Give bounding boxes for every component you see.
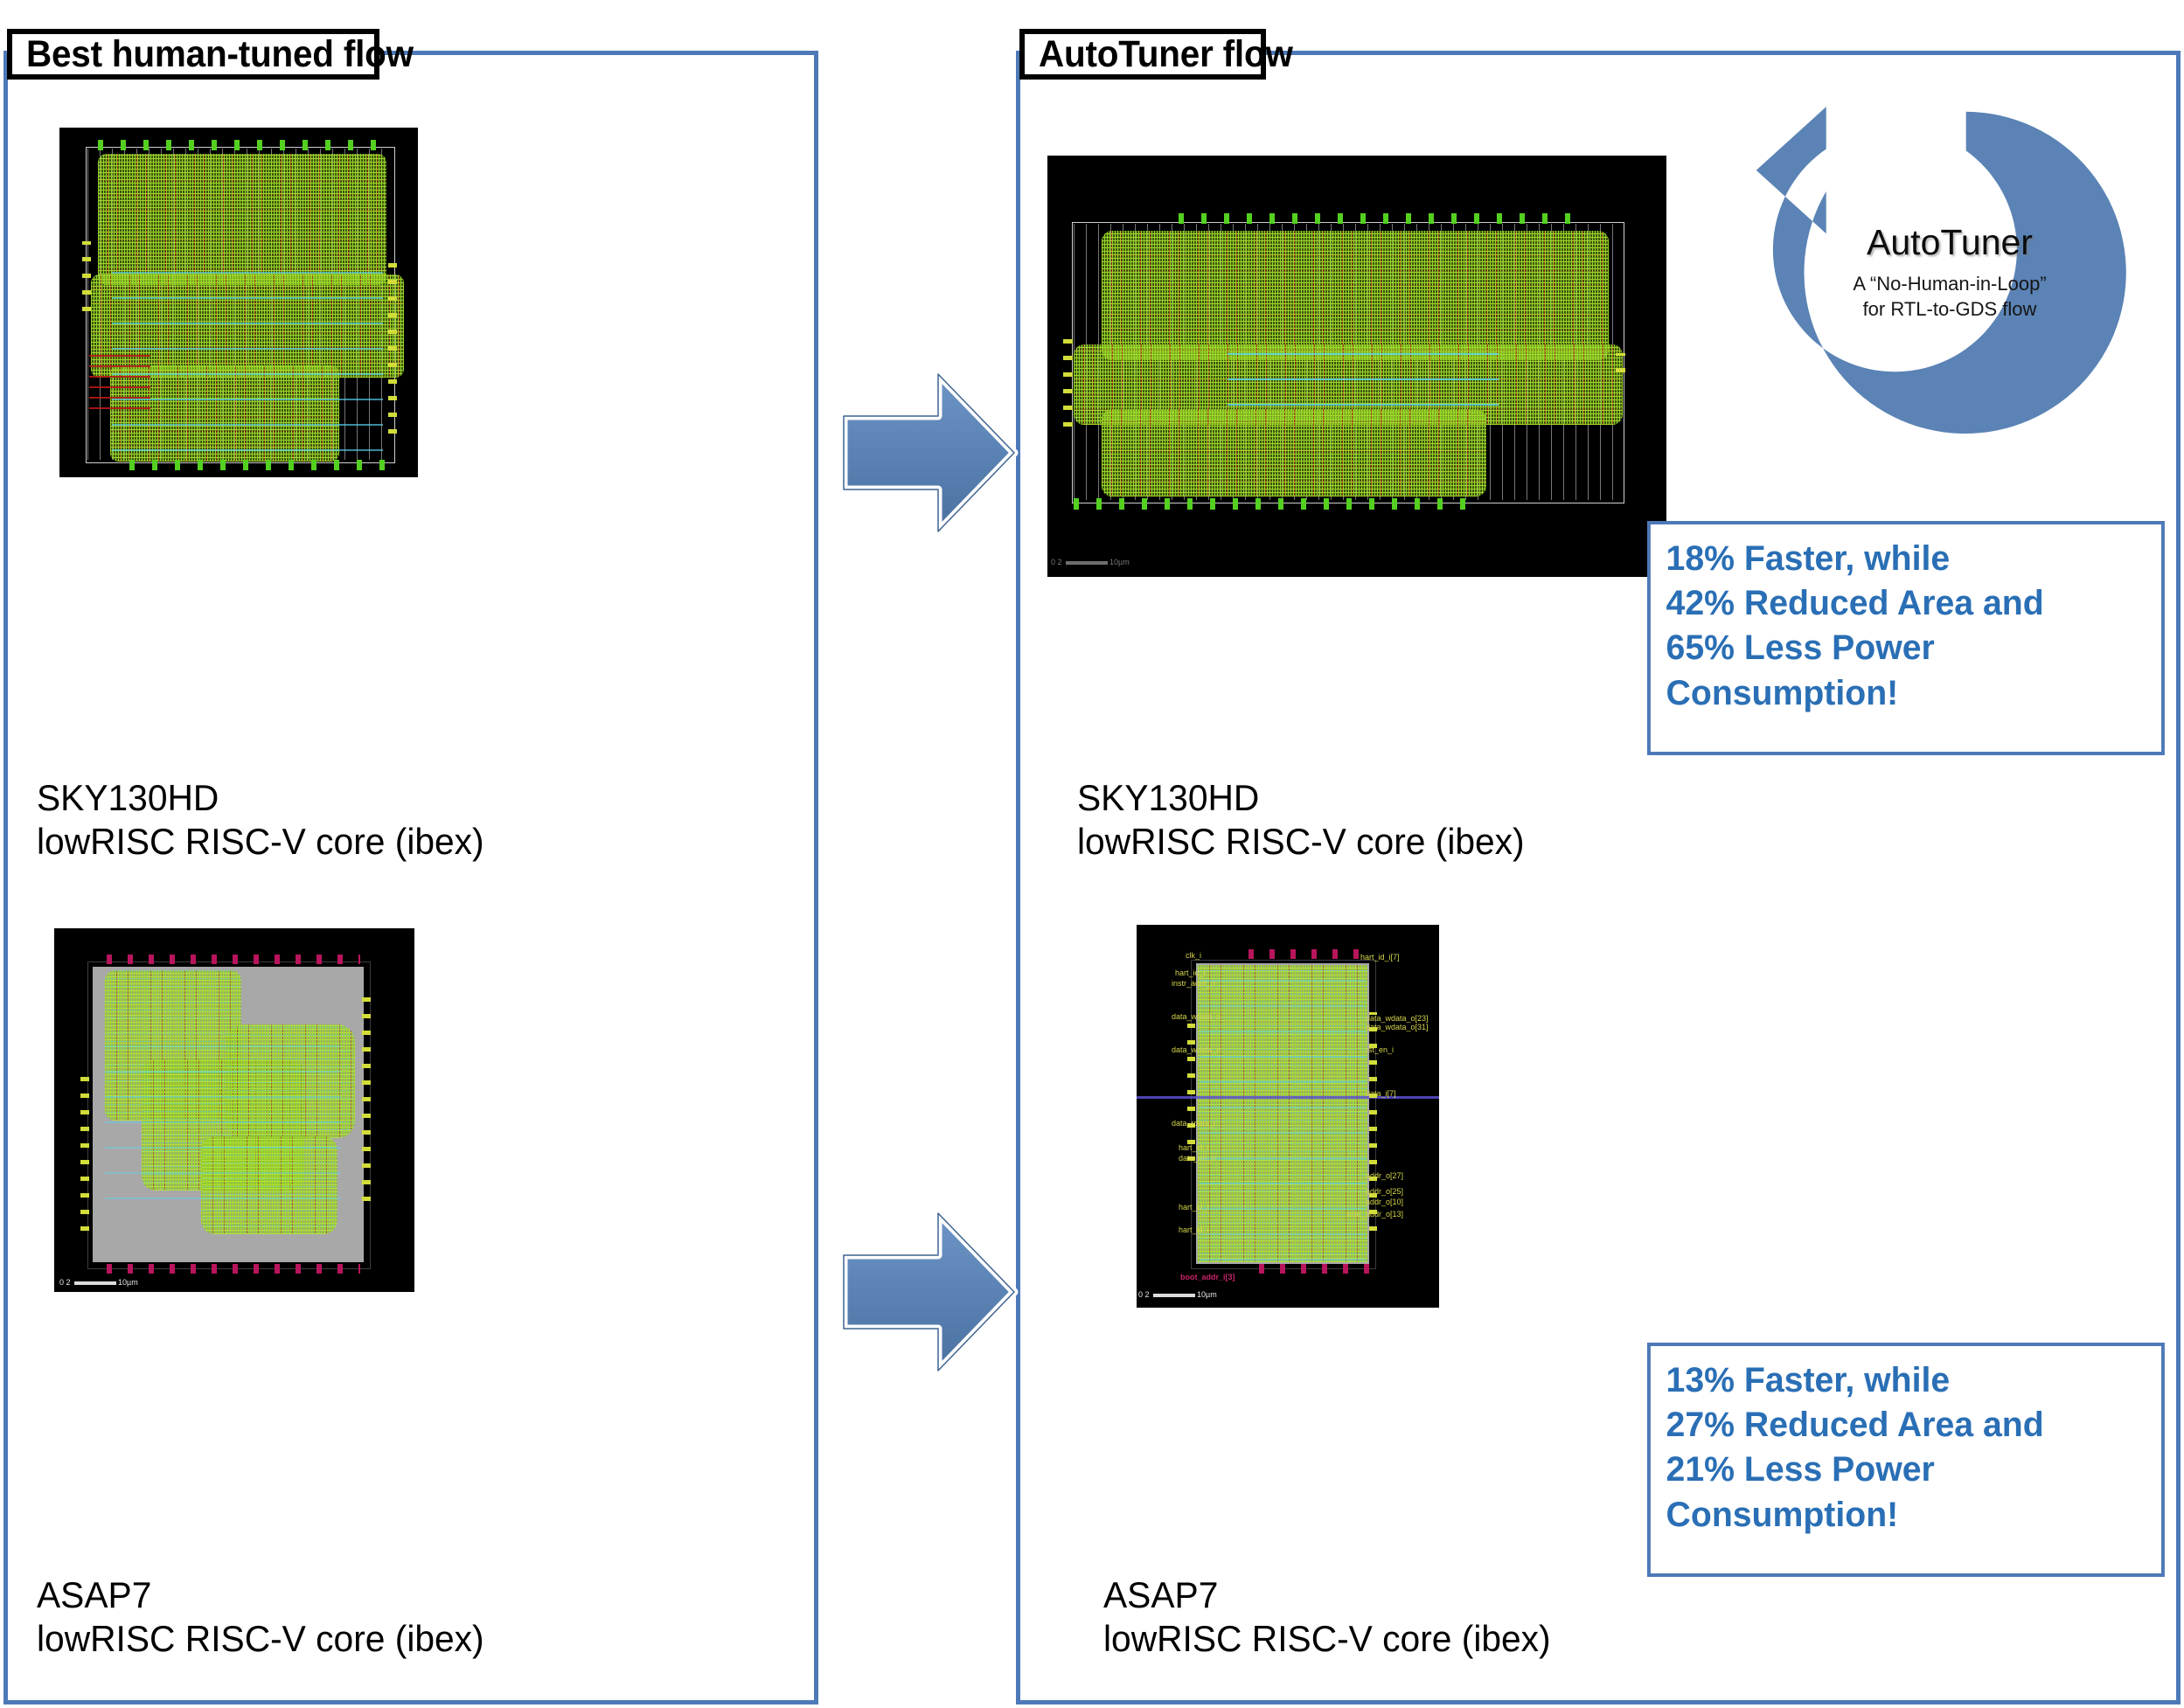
pin-label-wdata-o-23: data_wdata_o[23] <box>1366 1014 1429 1023</box>
pin-row-bottom <box>1074 498 1467 510</box>
pin-row-top <box>1179 213 1581 224</box>
panel-title-autotuner: AutoTuner flow <box>1019 29 1266 80</box>
pin-label-data-en-o: data_en_o <box>1179 1154 1216 1163</box>
pin-col-left <box>82 241 91 311</box>
result-callout-sky130hd: 18% Faster, while 42% Reduced Area and 6… <box>1647 521 2165 755</box>
pin-label-addr-o-25: addr_o[25] <box>1366 1187 1403 1196</box>
routing-cyan-layer <box>1200 969 1366 1260</box>
autotuner-logo-subtitle: A “No-Human-in-Loop” for RTL-to-GDS flow <box>1722 272 2177 322</box>
scale-bar-left-label: 0 2 <box>1138 1290 1150 1299</box>
chip-layout-sky130hd-autotuner: 0 2 10µm <box>1047 156 1666 577</box>
routing-cyan-layer <box>1228 344 1499 406</box>
autotuner-logo-title: AutoTuner <box>1722 222 2177 263</box>
flow-arrow-top <box>835 365 1023 540</box>
pin-label-instr-addr-o: instr_addr_o <box>1172 979 1215 988</box>
scale-bar-rule <box>74 1281 116 1285</box>
routing-cyan-layer <box>112 250 383 451</box>
pin-col-left <box>80 1073 89 1231</box>
right-arrow-icon <box>835 1205 1023 1379</box>
caption-sky130hd-human: SKY130HD lowRISC RISC-V core (ibex) <box>37 776 484 864</box>
die-canvas <box>59 128 418 477</box>
scale-bar-rule <box>1153 1294 1195 1297</box>
scale-bar: 0 2 10µm <box>59 1278 138 1287</box>
flow-arrow-bottom <box>835 1205 1023 1379</box>
scale-bar: 0 2 10µm <box>1138 1290 1217 1299</box>
pin-label-addr-o-10: addr_o[10] <box>1366 1198 1403 1206</box>
scale-bar-rule <box>1066 561 1108 565</box>
pin-label-instr-addr-o-13: instr_addr_o[13] <box>1346 1210 1403 1219</box>
pin-label-hart-id-i: hart_id_i <box>1175 969 1206 977</box>
scale-bar-right-label: 10µm <box>1109 558 1130 566</box>
pin-label-data-wdata-o-2: data_wdata_o <box>1172 1045 1221 1054</box>
panel-title-human-tuned: Best human-tuned flow <box>7 29 379 80</box>
pin-label-wdata-o-31: data_wdata_o[31] <box>1366 1023 1429 1031</box>
pin-row-bottom <box>1259 1264 1373 1274</box>
chip-layout-asap7-human-tuned: 0 2 10µm <box>54 928 414 1292</box>
scale-bar-left-label: 0 2 <box>59 1278 71 1287</box>
pin-row-top <box>107 955 360 964</box>
pin-label-hart-id-i-2: hart_id_i <box>1179 1143 1209 1152</box>
routing-block-bottom <box>1102 409 1486 496</box>
pin-label-hart-id-i-4: hart_id_i <box>1179 1225 1209 1234</box>
pin-label-hart-id-i-3: hart_id_i <box>1179 1203 1209 1212</box>
pin-row-bottom <box>129 460 392 470</box>
pin-row-top <box>98 140 386 150</box>
chip-layout-asap7-autotuner: clk_i hart_id_i instr_addr_o data_wdata_… <box>1137 925 1439 1308</box>
caption-asap7-human: ASAP7 lowRISC RISC-V core (ibex) <box>37 1573 484 1662</box>
pin-col-left <box>1063 339 1073 427</box>
pin-label-addr-o-27: addr_o[27] <box>1366 1171 1403 1180</box>
panel-title-autotuner-label: AutoTuner flow <box>1039 33 1293 76</box>
pin-label-hart-id-i-7: hart_id_i[7] <box>1360 953 1400 962</box>
scale-bar-left-label: 0 2 <box>1051 558 1062 566</box>
autotuner-logo-text: AutoTuner A “No-Human-in-Loop” for RTL-t… <box>1722 222 2177 322</box>
pin-label-rst-en-i: rst_en_i <box>1366 1045 1394 1054</box>
scale-bar-right-label: 10µm <box>118 1278 138 1287</box>
die-canvas: 0 2 10µm <box>1047 156 1666 577</box>
scale-bar-right-label: 10µm <box>1197 1290 1217 1299</box>
routing-block-top <box>1102 231 1609 360</box>
die-canvas: 0 2 10µm <box>54 928 414 1292</box>
pin-label-data-i-7: data_i[7] <box>1366 1089 1396 1098</box>
panel-title-human-tuned-label: Best human-tuned flow <box>26 33 414 76</box>
pin-row-top <box>1248 949 1362 959</box>
die-canvas: clk_i hart_id_i instr_addr_o data_wdata_… <box>1137 925 1439 1308</box>
pin-col-right <box>388 259 397 434</box>
result-callout-asap7: 13% Faster, while 27% Reduced Area and 2… <box>1647 1343 2165 1577</box>
caption-asap7-autotuner: ASAP7 lowRISC RISC-V core (ibex) <box>1103 1573 1551 1662</box>
pin-col-left <box>1187 1021 1195 1161</box>
routing-red-left <box>89 346 150 409</box>
chip-layout-sky130hd-human-tuned <box>59 128 418 477</box>
pin-label-boot-addr-i-3: boot_addr_i[3] <box>1180 1273 1235 1281</box>
pin-row-bottom <box>107 1264 360 1274</box>
right-arrow-icon <box>835 365 1023 540</box>
pin-label-data-wdata-o: data_wdata_o <box>1172 1012 1221 1021</box>
pin-col-right <box>1616 353 1625 372</box>
routing-cyan-layer <box>105 1033 341 1199</box>
scale-bar: 0 2 10µm <box>1051 558 1130 566</box>
pin-label-clk-i: clk_i <box>1186 951 1201 960</box>
caption-sky130hd-autotuner: SKY130HD lowRISC RISC-V core (ibex) <box>1077 776 1525 864</box>
autotuner-logo: AutoTuner A “No-Human-in-Loop” for RTL-t… <box>1722 75 2177 486</box>
pin-label-data-rdata-i: data_rdata_i <box>1172 1119 1215 1128</box>
pin-col-right <box>362 991 371 1201</box>
